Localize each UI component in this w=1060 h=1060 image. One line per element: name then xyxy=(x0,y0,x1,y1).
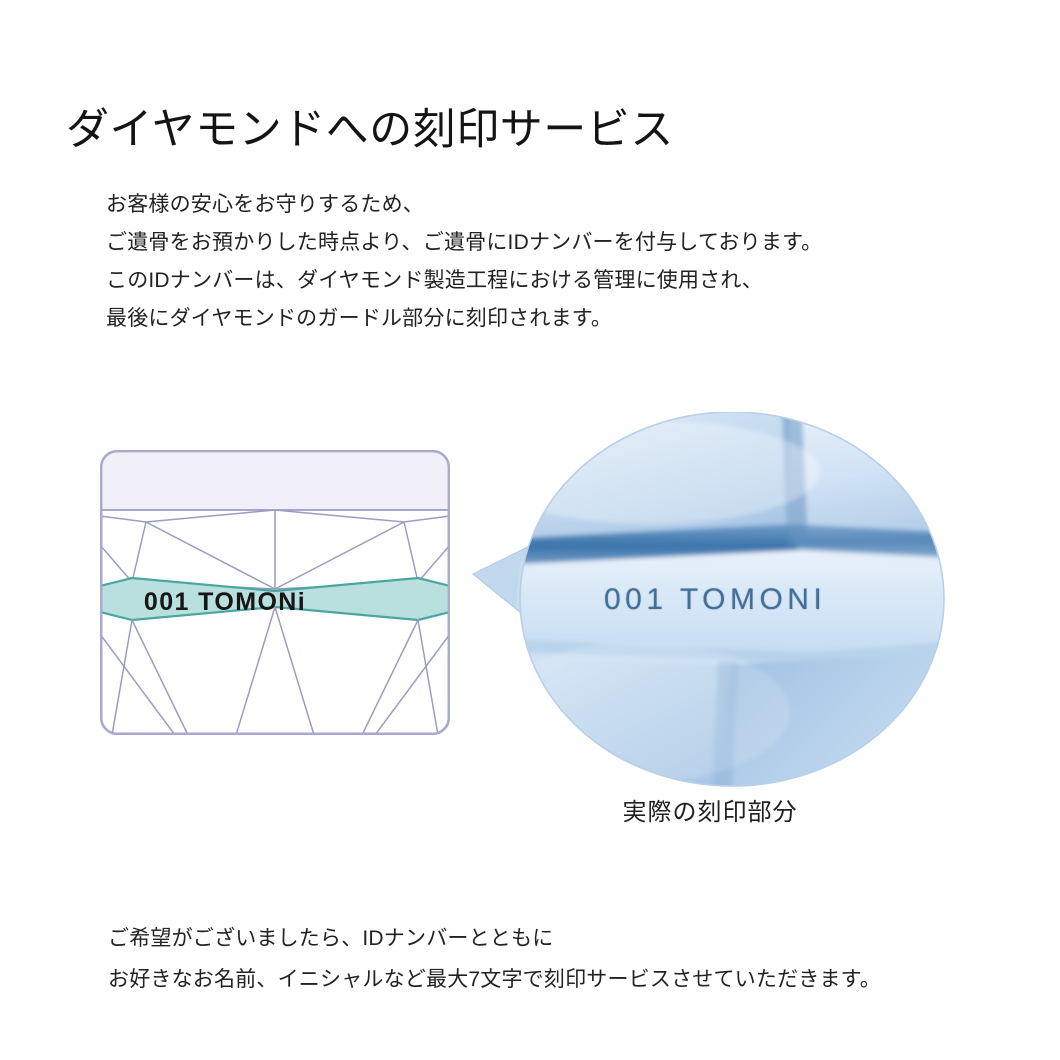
page-title: ダイヤモンドへの刻印サービス xyxy=(66,105,674,157)
inscription-photo xyxy=(470,412,950,792)
pointer-arrow-fill xyxy=(516,534,562,637)
card-outline xyxy=(101,451,449,734)
intro-line-2: ご遺骨をお預かりした時点より、ご遺骨にIDナンバーを付与しております。 xyxy=(106,224,822,262)
intro-paragraph: お客様の安心をお守りするため、 ご遺骨をお預かりした時点より、ご遺骨にIDナンバ… xyxy=(106,186,822,338)
photo-caption: 実際の刻印部分 xyxy=(470,792,950,827)
girdle-band xyxy=(100,578,450,620)
closing-line-2: お好きなお名前、イニシャルなど最大7文字で刻印サービスさせていただきます。 xyxy=(108,959,881,1000)
figure-group: 001 TOMONi xyxy=(0,0,1060,1060)
diamond-schematic-svg xyxy=(100,450,450,735)
diamond-schematic-card xyxy=(100,450,450,735)
girdle-inscription-label: 001 TOMONi xyxy=(0,588,450,617)
intro-line-3: このIDナンバーは、ダイヤモンド製造工程における管理に使用され、 xyxy=(106,262,822,300)
product-info-page: ダイヤモンドへの刻印サービス お客様の安心をお守りするため、 ご遺骨をお預かりし… xyxy=(0,0,1060,1060)
intro-line-4: 最後にダイヤモンドのガードル部分に刻印されます。 xyxy=(106,300,822,338)
inscription-photo-svg xyxy=(470,412,950,792)
photo-inscription-text: 001 TOMONI xyxy=(604,583,826,617)
closing-paragraph: ご希望がございましたら、IDナンバーとともに お好きなお名前、イニシャルなど最大… xyxy=(108,918,881,1000)
photo-content xyxy=(480,412,950,792)
card-border-overlay xyxy=(101,451,449,734)
photo-circle-rim xyxy=(520,412,944,786)
intro-line-1: お客様の安心をお守りするため、 xyxy=(106,186,822,224)
diamond-facets xyxy=(100,450,450,735)
closing-line-1: ご希望がございましたら、IDナンバーとともに xyxy=(108,918,881,959)
table-facet-fill xyxy=(100,450,450,510)
pointer-arrow-icon xyxy=(473,540,542,630)
